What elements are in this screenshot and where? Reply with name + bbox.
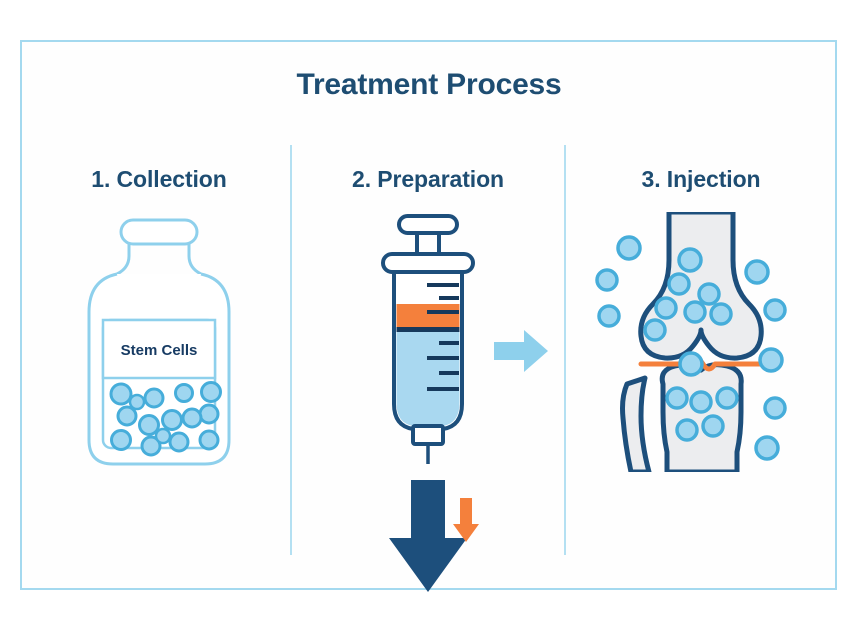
- injection-direction-group: [294, 480, 562, 600]
- stem-cell: [176, 385, 193, 402]
- stem-cell: [156, 429, 170, 443]
- injected-cell: [756, 437, 778, 459]
- panel-divider-1: [290, 145, 292, 555]
- injected-cell: [667, 388, 687, 408]
- panel-divider-2: [564, 145, 566, 555]
- jar-neck-left: [117, 244, 129, 274]
- injected-cell-joint: [680, 353, 702, 375]
- stem-cell: [202, 383, 221, 402]
- injected-cell: [656, 298, 676, 318]
- syringe-fluid-line: [397, 327, 460, 332]
- stem-cell: [200, 405, 218, 423]
- syringe-thumb-rest: [399, 216, 457, 233]
- injected-cell: [645, 320, 665, 340]
- fibula-bone: [623, 378, 650, 472]
- syringe-orange-band: [397, 304, 460, 330]
- arrow-down-small-icon: [453, 498, 479, 542]
- needle-hub: [413, 426, 443, 444]
- tibia-bone: [662, 365, 741, 472]
- step-title-injection: 3. Injection: [568, 166, 834, 193]
- stem-cell: [170, 433, 188, 451]
- page-title: Treatment Process: [0, 68, 858, 102]
- injected-cell: [699, 284, 719, 304]
- injected-cell: [685, 302, 705, 322]
- injection-artwork: [568, 212, 834, 472]
- stem-cell: [140, 416, 159, 435]
- arrow-down-large-icon: [389, 480, 467, 592]
- step-title-preparation: 2. Preparation: [294, 166, 562, 193]
- jar-lid: [121, 220, 197, 244]
- stem-cell: [130, 395, 144, 409]
- injected-cell: [691, 392, 711, 412]
- injected-cell: [669, 274, 689, 294]
- arrow-right-shape: [494, 330, 548, 372]
- collection-artwork: Stem Cells: [30, 212, 288, 482]
- stem-cell: [118, 407, 136, 425]
- injected-cell: [746, 261, 768, 283]
- injected-cell: [679, 249, 701, 271]
- down-arrow-group: [363, 480, 493, 600]
- injected-cell: [677, 420, 697, 440]
- injected-cell: [599, 306, 619, 326]
- syringe-flange: [383, 254, 473, 272]
- stem-cell: [183, 409, 201, 427]
- connector-arrow: [494, 328, 550, 374]
- injected-cell: [618, 237, 640, 259]
- stem-cell: [112, 431, 131, 450]
- stem-cell: [111, 384, 131, 404]
- injected-cell: [765, 398, 785, 418]
- jar-label-text: Stem Cells: [121, 342, 198, 359]
- injected-cell: [703, 416, 723, 436]
- right-arrow-icon: [494, 328, 550, 374]
- syringe-icon: [363, 212, 493, 492]
- stem-cell: [163, 411, 182, 430]
- treatment-process-infographic: Treatment Process 1. Collection Stem Cel…: [0, 0, 858, 623]
- step-panel-injection: 3. Injection: [568, 150, 834, 550]
- injected-cell: [760, 349, 782, 371]
- injected-cell: [765, 300, 785, 320]
- step-title-collection: 1. Collection: [30, 166, 288, 193]
- jar-neck-right: [189, 244, 201, 274]
- specimen-jar-icon: Stem Cells: [59, 212, 259, 482]
- injected-cell: [597, 270, 617, 290]
- stem-cell: [200, 431, 218, 449]
- step-panel-collection: 1. Collection Stem Cells: [30, 150, 288, 550]
- injected-cell: [711, 304, 731, 324]
- injected-cell: [717, 388, 737, 408]
- stem-cell: [145, 389, 163, 407]
- knee-joint-icon: [591, 212, 811, 472]
